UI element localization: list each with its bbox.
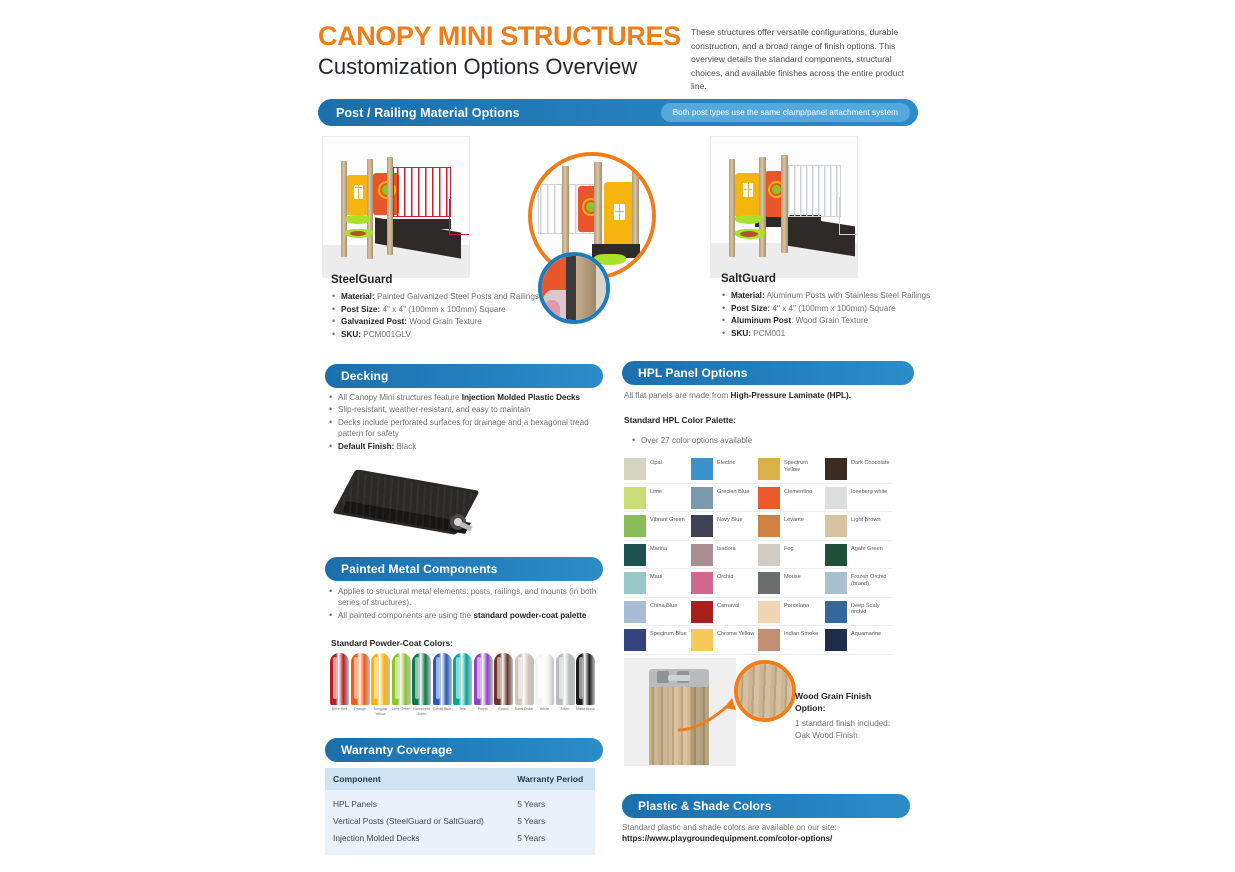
list-item: All painted components are using the sta… <box>328 610 604 621</box>
list-item: SKU: PCM001GLV <box>331 329 601 341</box>
hpl-color-cell[interactable]: Lime <box>624 484 691 513</box>
list-item: Material: Painted Galvanized Steel Posts… <box>331 291 601 303</box>
painted-metal-bullets: Applies to structural metal elements: po… <box>328 586 604 622</box>
hpl-color-cell[interactable]: Light Brown <box>825 512 892 541</box>
table-row: Vertical Posts (SteelGuard or SaltGuard)… <box>333 812 587 829</box>
cell-period: 5 Years <box>517 833 587 843</box>
powder-coat-item[interactable]: Orange <box>351 653 370 716</box>
section-title-painted-metal: Painted Metal Components <box>341 562 497 576</box>
hpl-color-cell[interactable]: Orchid <box>691 569 758 598</box>
page-subtitle: Customization Options Overview <box>318 54 688 80</box>
hpl-color-cell[interactable]: Spectrum Yellow <box>758 455 825 484</box>
hpl-color-label: Light Brown <box>847 515 881 524</box>
powder-coat-label: Brick Red <box>330 707 349 712</box>
hpl-color-label: Lime <box>646 487 662 496</box>
hpl-color-cell[interactable]: China Blue <box>624 598 691 627</box>
hpl-color-label: Iceeberg white <box>847 487 887 496</box>
page-title: CANOPY MINI STRUCTURES <box>318 22 688 50</box>
hpl-color-cell[interactable]: Carnaval <box>691 598 758 627</box>
hpl-color-cell[interactable]: Indian Smoke <box>758 626 825 655</box>
hpl-color-swatch <box>624 544 646 566</box>
powder-coat-item[interactable]: Cobalt Blue <box>433 653 452 716</box>
header-intro-text: These structures offer versatile configu… <box>691 26 921 94</box>
list-item: Decks include perforated surfaces for dr… <box>328 417 604 440</box>
hpl-color-cell[interactable]: Iceeberg white <box>825 484 892 513</box>
powder-coat-swatch <box>494 653 513 705</box>
wood-grain-body: 1 standard finish included: Oak Wood Fin… <box>795 718 891 742</box>
hpl-color-cell[interactable]: Agate Green <box>825 541 892 570</box>
hpl-color-label: Vibrant Green <box>646 515 685 524</box>
hpl-color-swatch <box>624 515 646 537</box>
powder-coat-swatch <box>330 653 349 705</box>
hpl-color-label: Frozen Orchid (brand) <box>847 572 892 588</box>
hpl-color-label: Spectrum Blue <box>646 629 687 638</box>
hpl-color-cell[interactable]: Porcelana <box>758 598 825 627</box>
hpl-color-cell[interactable]: Spectrum Blue <box>624 626 691 655</box>
section-title-warranty: Warranty Coverage <box>341 743 452 757</box>
hpl-color-label: Agate Green <box>847 544 883 553</box>
hpl-color-cell[interactable]: Electric <box>691 455 758 484</box>
hpl-color-label: Carnaval <box>713 601 739 610</box>
hpl-color-swatch <box>691 572 713 594</box>
powder-coat-item[interactable]: Purple <box>474 653 493 716</box>
hpl-color-label: Spectrum Yellow <box>780 458 825 474</box>
powder-coat-label: Cobalt Blue <box>433 707 452 712</box>
powder-coat-palette-title: Standard Powder-Coat Colors: <box>331 638 453 648</box>
hpl-color-grid: OpalElectricSpectrum YellowDark Chocolat… <box>624 455 892 655</box>
hpl-color-swatch <box>758 601 780 623</box>
powder-coat-label: Teal <box>453 707 472 712</box>
powder-coat-swatch <box>433 653 452 705</box>
hpl-color-cell[interactable]: Grecian Blue <box>691 484 758 513</box>
list-item: Material: Aluminum Posts with Stainless … <box>721 290 991 302</box>
saltguard-block: SaltGuard Material: Aluminum Posts with … <box>721 273 991 341</box>
hpl-color-label: Chrome Yellow <box>713 629 754 638</box>
hpl-color-cell[interactable]: Fog <box>758 541 825 570</box>
hpl-color-swatch <box>691 458 713 480</box>
hpl-color-swatch <box>691 629 713 651</box>
hpl-color-swatch <box>691 544 713 566</box>
list-item: SKU: PCM001 <box>721 328 991 340</box>
section-bar-warranty: Warranty Coverage <box>325 738 603 762</box>
list-item: Post Size: 4" x 4" (100mm x 100mm) Squar… <box>331 304 601 316</box>
plastic-shade-url[interactable]: https://www.playgroundequipment.com/colo… <box>622 834 832 843</box>
hpl-color-label: Clementino <box>780 487 812 496</box>
list-item: Galvanized Post: Wood Grain Texture <box>331 316 601 328</box>
deck-product-image <box>322 470 502 550</box>
decking-bullets: All Canopy Mini structures feature Injec… <box>328 392 604 453</box>
powder-coat-label: Silver <box>556 707 575 712</box>
hpl-color-swatch <box>691 515 713 537</box>
header-titles: CANOPY MINI STRUCTURES Customization Opt… <box>318 22 688 81</box>
hpl-intro: All flat panels are made from High-Press… <box>624 391 851 400</box>
powder-coat-label: Rainforest Green <box>412 707 431 716</box>
powder-coat-label: Sunglow Yellow <box>371 707 390 716</box>
powder-coat-item[interactable]: Lime Green <box>392 653 411 716</box>
powder-coat-swatch <box>576 653 595 705</box>
section-bar-hpl: HPL Panel Options <box>622 361 914 385</box>
section-bar-plastic-shade: Plastic & Shade Colors <box>622 794 910 818</box>
column-header-component: Component <box>333 774 517 784</box>
powder-coat-swatch <box>412 653 431 705</box>
powder-coat-item[interactable]: Silver <box>556 653 575 716</box>
powder-coat-label: Sand Dollar <box>515 707 534 712</box>
hpl-color-label: Opal <box>646 458 662 467</box>
hpl-color-cell[interactable]: Navy Blue <box>691 512 758 541</box>
hpl-color-label: Indian Smoke <box>780 629 818 638</box>
hpl-color-swatch <box>758 572 780 594</box>
list-item: Post Size: 4" x 4" (100mm x 100mm) Squar… <box>721 303 991 315</box>
hpl-color-label: Orchid <box>713 572 733 581</box>
plastic-shade-line1: Standard plastic and shade colors are av… <box>622 823 837 832</box>
infographic-page: CANOPY MINI STRUCTURES Customization Opt… <box>0 0 1235 872</box>
hpl-color-label: Electric <box>713 458 735 467</box>
powder-coat-item[interactable]: Matte Black <box>576 653 595 716</box>
hpl-color-label: Isadora <box>713 544 736 553</box>
hpl-color-cell[interactable]: Marina <box>624 541 691 570</box>
steelguard-title: SteelGuard <box>331 274 601 286</box>
powder-coat-item[interactable]: White <box>535 653 554 716</box>
powder-coat-item[interactable]: Rainforest Green <box>412 653 431 716</box>
hpl-color-swatch <box>758 629 780 651</box>
cell-component: Vertical Posts (SteelGuard or SaltGuard) <box>333 816 517 826</box>
table-row: HPL Panels 5 Years <box>333 795 587 812</box>
section-bar-decking: Decking <box>325 364 603 388</box>
hpl-color-label: China Blue <box>646 601 677 610</box>
warranty-table-body: HPL Panels 5 Years Vertical Posts (Steel… <box>325 790 595 855</box>
section-title-post-railing: Post / Railing Material Options <box>336 106 520 120</box>
powder-coat-label: Lime Green <box>392 707 411 712</box>
list-item: Applies to structural metal elements: po… <box>328 586 604 609</box>
powder-coat-item[interactable]: Teal <box>453 653 472 716</box>
section-title-plastic-shade: Plastic & Shade Colors <box>638 799 772 813</box>
powder-coat-item[interactable]: Sand Dollar <box>515 653 534 716</box>
powder-coat-swatches: Brick RedOrangeSunglow YellowLime GreenR… <box>330 653 595 716</box>
powder-coat-swatch <box>371 653 390 705</box>
callout-arrow-icon <box>676 690 746 734</box>
saltguard-product-image <box>710 136 858 278</box>
hpl-color-swatch <box>825 601 847 623</box>
hpl-color-cell[interactable]: Aquamarine <box>825 626 892 655</box>
powder-coat-swatch <box>392 653 411 705</box>
section-title-hpl: HPL Panel Options <box>638 366 748 380</box>
hpl-color-swatch <box>624 487 646 509</box>
powder-coat-label: Orange <box>351 707 370 712</box>
hpl-color-cell[interactable]: Vibrant Green <box>624 512 691 541</box>
list-item: Slip-resistant, weather-resistant, and e… <box>328 404 604 415</box>
hpl-color-label: Fog <box>780 544 794 553</box>
hpl-color-cell[interactable]: Chrome Yellow <box>691 626 758 655</box>
hpl-color-swatch <box>624 572 646 594</box>
powder-coat-label: Brown <box>494 707 513 712</box>
hpl-intro-pre: All flat panels are made from <box>624 391 731 400</box>
hpl-color-swatch <box>758 458 780 480</box>
list-item: Over 27 color options available <box>631 435 752 446</box>
list-item: Default Finish: Black <box>328 441 604 452</box>
hpl-color-swatch <box>691 601 713 623</box>
hpl-color-label: Deep Scaly orchid <box>847 601 892 617</box>
hpl-color-swatch <box>825 515 847 537</box>
hpl-color-cell[interactable]: Opal <box>624 455 691 484</box>
saltguard-title: SaltGuard <box>721 273 991 285</box>
hpl-color-swatch <box>758 487 780 509</box>
hpl-color-label: Levante <box>780 515 804 524</box>
hpl-color-cell[interactable]: Frozen Orchid (brand) <box>825 569 892 598</box>
hpl-color-swatch <box>825 572 847 594</box>
section-bar-post-railing: Post / Railing Material Options Both pos… <box>318 99 918 126</box>
powder-coat-label: Purple <box>474 707 493 712</box>
powder-coat-swatch <box>351 653 370 705</box>
list-item: All Canopy Mini structures feature Injec… <box>328 392 604 403</box>
hpl-color-swatch <box>758 515 780 537</box>
hpl-bullets: Over 27 color options available <box>631 435 752 447</box>
wood-grain-title-line1: Wood Grain Finish <box>795 691 871 701</box>
hpl-color-swatch <box>825 544 847 566</box>
wood-grain-title-line2: Option: <box>795 703 826 713</box>
powder-coat-item[interactable]: Brown <box>494 653 513 716</box>
hpl-color-label: Maui <box>646 572 662 581</box>
powder-coat-swatch <box>453 653 472 705</box>
column-header-warranty-period: Warranty Period <box>517 774 587 784</box>
hpl-intro-strong: High-Pressure Laminate (HPL). <box>731 391 852 400</box>
steelguard-block: SteelGuard Material: Painted Galvanized … <box>331 274 601 342</box>
hpl-color-swatch <box>624 601 646 623</box>
section-title-decking: Decking <box>341 369 388 383</box>
powder-coat-swatch <box>474 653 493 705</box>
warranty-table: Component Warranty Period HPL Panels 5 Y… <box>325 768 595 855</box>
hpl-color-swatch <box>624 629 646 651</box>
hpl-color-label: Mouse <box>780 572 801 581</box>
cell-period: 5 Years <box>517 816 587 826</box>
post-railing-note-pill: Both post types use the same clamp/panel… <box>661 103 910 122</box>
table-row: Injection Molded Decks 5 Years <box>333 829 587 846</box>
steelguard-product-image <box>322 136 470 278</box>
hpl-color-cell[interactable]: Levante <box>758 512 825 541</box>
hpl-palette-title: Standard HPL Color Palette: <box>624 415 736 425</box>
powder-coat-item[interactable]: Brick Red <box>330 653 349 716</box>
powder-coat-item[interactable]: Sunglow Yellow <box>371 653 390 716</box>
hpl-color-cell[interactable]: Isadora <box>691 541 758 570</box>
hpl-color-swatch <box>691 487 713 509</box>
cell-component: HPL Panels <box>333 799 517 809</box>
hpl-color-label: Grecian Blue <box>713 487 749 496</box>
hpl-color-cell[interactable]: Deep Scaly orchid <box>825 598 892 627</box>
hpl-color-label: Porcelana <box>780 601 809 610</box>
hpl-color-cell[interactable]: Clementino <box>758 484 825 513</box>
hpl-color-swatch <box>825 487 847 509</box>
wood-grain-title: Wood Grain Finish Option: <box>795 691 905 714</box>
hpl-color-label: Aquamarine <box>847 629 881 638</box>
powder-coat-swatch <box>535 653 554 705</box>
list-item: Aluminum Post: Wood Grain Texture <box>721 315 991 327</box>
hpl-color-swatch <box>825 629 847 651</box>
cell-component: Injection Molded Decks <box>333 833 517 843</box>
warranty-table-header: Component Warranty Period <box>325 768 595 790</box>
powder-coat-label: Matte Black <box>576 707 595 712</box>
cell-period: 5 Years <box>517 799 587 809</box>
hpl-color-swatch <box>825 458 847 480</box>
hpl-color-cell[interactable]: Mouse <box>758 569 825 598</box>
hpl-color-label: Dark Chocolate <box>847 458 890 467</box>
saltguard-bullets: Material: Aluminum Posts with Stainless … <box>721 290 991 340</box>
hpl-color-swatch <box>758 544 780 566</box>
hpl-color-swatch <box>624 458 646 480</box>
hpl-color-cell[interactable]: Dark Chocolate <box>825 455 892 484</box>
powder-coat-swatch <box>556 653 575 705</box>
hpl-color-label: Navy Blue <box>713 515 743 524</box>
hpl-color-cell[interactable]: Maui <box>624 569 691 598</box>
section-bar-painted-metal: Painted Metal Components <box>325 557 603 581</box>
powder-coat-label: White <box>535 707 554 712</box>
hpl-color-label: Marina <box>646 544 667 553</box>
powder-coat-swatch <box>515 653 534 705</box>
steelguard-bullets: Material: Painted Galvanized Steel Posts… <box>331 291 601 341</box>
